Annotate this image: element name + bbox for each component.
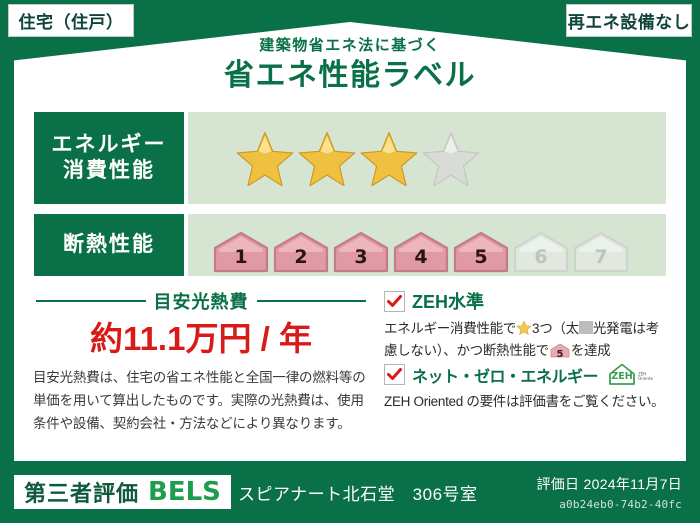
frame-right-edge [686,56,700,523]
insulation-level-number: 3 [332,246,390,268]
zeh-standard-body: エネルギー消費性能で 3つ（太光発電は考慮しない）、かつ断熱性能で 5を達成 [384,318,670,362]
net-zero-energy-header: ネット・ゼロ・エネルギー ZEH ZEH Oriented [384,362,670,387]
checkbox-checked-icon [384,291,405,312]
insulation-level-active: 2 [272,230,330,274]
page-title: 省エネ性能ラベル [0,57,700,95]
utility-cost-note: 目安光熱費は、住宅の省エネ性能と全国一律の燃料等の単価を用いて算出したものです。… [33,366,368,436]
energy-performance-label: エネルギー 消費性能 [34,112,184,204]
zeh-standard-block: ZEH水準 エネルギー消費性能で 3つ（太光発電は考慮しない）、かつ断熱性能で … [384,288,670,362]
property-name: スピアナート北石堂 306号室 [238,480,478,505]
zeh-body-text-4: を達成 [571,343,611,358]
insulation-level-number: 5 [452,246,510,268]
obscured-character-glyph [579,321,593,334]
insulation-level-number: 7 [572,246,630,268]
insulation-performance-row: 断熱性能 1234567 [34,214,666,276]
star-filled-icon [298,130,356,186]
zeh-body-text-2: 3つ（太 [532,321,579,336]
insulation-level-inactive: 7 [572,230,630,274]
zeh-body-text-1: エネルギー消費性能で [384,321,516,336]
net-zero-energy-title: ネット・ゼロ・エネルギー [412,363,598,387]
insulation-level-number: 2 [272,246,330,268]
third-party-evaluation-label: 第三者評価 [24,476,139,508]
net-zero-energy-body: ZEH Oriented の要件は評価書をご覧ください。 [384,391,670,413]
inline-insulation-badge: 5 [550,343,570,358]
renewable-equipment-badge: 再エネ設備なし [566,4,692,37]
utility-cost-heading-text: 目安光熱費 [154,288,249,314]
evaluation-date: 評価日 2024年11月7日 [536,474,682,494]
insulation-level-active: 4 [392,230,450,274]
frame-left-edge [0,56,14,523]
insulation-level-number: 4 [392,246,450,268]
bels-logo-text: BELS [148,477,221,507]
evaluation-id: a0b24eb0-74b2-40fc [559,498,682,511]
star-filled-icon [360,130,418,186]
energy-star-rating [188,112,666,204]
insulation-level-scale: 1234567 [188,214,666,276]
zeh-standard-title: ZEH水準 [412,288,484,314]
net-zero-energy-block: ネット・ゼロ・エネルギー ZEH ZEH Oriented ZEH Orient… [384,362,670,413]
star-empty-icon [422,130,480,186]
zeh-standard-header: ZEH水準 [384,288,670,314]
insulation-level-active: 5 [452,230,510,274]
insulation-level-number: 1 [212,246,270,268]
insulation-level-active: 3 [332,230,390,274]
star-filled-icon [236,130,294,186]
inline-badge-level: 5 [550,347,570,363]
insulation-label-text: 断熱性能 [63,232,155,258]
utility-cost-heading: 目安光熱費 [36,288,366,314]
bels-certification-box: 第三者評価 BELS [14,475,231,509]
inline-star-icon [516,320,532,336]
label-title-block: 建築物省エネ法に基づく 省エネ性能ラベル [0,38,700,94]
energy-label-line1: エネルギー [52,132,167,158]
svg-text:ZEH: ZEH [611,371,632,382]
energy-label-line2: 消費性能 [63,158,155,184]
svg-text:Oriented: Oriented [638,376,653,381]
heading-rule-left [36,300,146,302]
insulation-level-number: 6 [512,246,570,268]
zeh-oriented-logo-icon: ZEH ZEH Oriented [607,362,653,387]
insulation-level-inactive: 6 [512,230,570,274]
utility-cost-amount: 約11.1万円 / 年 [36,312,366,360]
building-type-badge: 住宅（住戸） [8,4,134,37]
title-subtitle: 建築物省エネ法に基づく [0,38,700,55]
insulation-level-active: 1 [212,230,270,274]
energy-performance-label: 住宅（住戸） 再エネ設備なし 建築物省エネ法に基づく 省エネ性能ラベル エネルギ… [0,0,700,523]
insulation-performance-label: 断熱性能 [34,214,184,276]
checkbox-checked-icon [384,364,405,385]
heading-rule-right [257,300,367,302]
energy-performance-row: エネルギー 消費性能 [34,112,666,204]
